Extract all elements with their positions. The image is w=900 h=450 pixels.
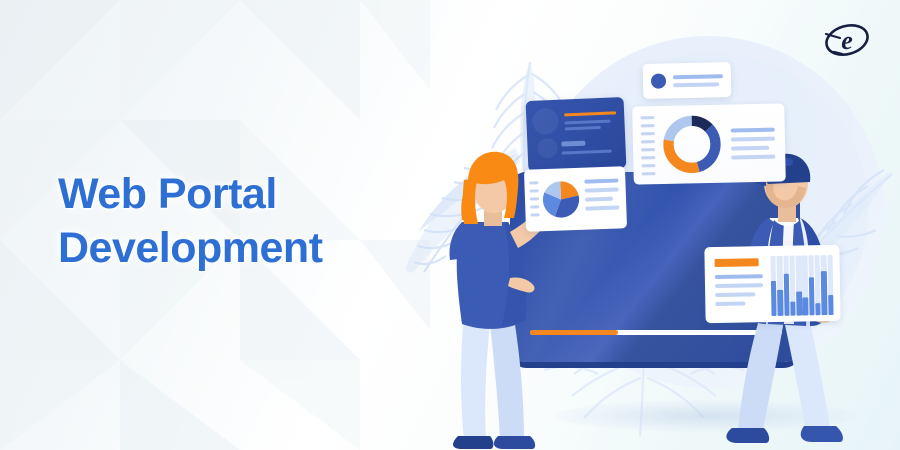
bar-card-text-line <box>715 301 745 306</box>
card-blob <box>532 108 559 135</box>
donut-card-tick <box>641 148 655 151</box>
avatar-card-text-line <box>673 74 723 79</box>
bar <box>809 277 815 315</box>
pie-card-text-line <box>585 197 613 202</box>
pie-card-tick <box>530 205 539 208</box>
dark-card-text-line <box>565 126 601 131</box>
pie-card-text-line <box>585 205 619 210</box>
page-title-line-2: Development <box>58 222 323 276</box>
bar <box>815 303 821 315</box>
pie-card-tick <box>530 213 539 216</box>
pie-chart <box>541 180 580 219</box>
card-blob <box>537 138 558 159</box>
bar-chart-card[interactable] <box>704 245 840 323</box>
bar <box>803 297 809 315</box>
avatar-card[interactable] <box>643 62 732 99</box>
bar-card-accent-bar <box>715 258 759 267</box>
dark-card-text-line <box>562 150 612 155</box>
pie-card-tick <box>530 197 539 200</box>
donut-card-text-line <box>731 146 769 151</box>
bar-card-text-line <box>715 274 763 279</box>
dark-card-text-line <box>564 120 610 125</box>
bar-card-text-line <box>715 283 763 288</box>
logo-glyph: e <box>841 26 853 55</box>
donut-card-text-line <box>731 155 775 160</box>
avatar-card-text-line <box>673 82 719 87</box>
bar <box>771 281 777 316</box>
dark-card-highlight <box>561 141 585 147</box>
bar <box>828 295 834 315</box>
bar <box>796 291 802 315</box>
donut-card-tick <box>642 172 656 175</box>
bar <box>821 271 827 315</box>
donut-card-tick <box>641 164 655 167</box>
donut-chart <box>660 113 723 176</box>
banner-root: Web Portal Development e <box>0 0 900 450</box>
pie-card-tick <box>530 189 539 192</box>
bar-card-text-line <box>715 292 755 297</box>
donut-card-text-line <box>731 137 775 142</box>
bar <box>790 301 796 315</box>
bar <box>783 274 789 316</box>
donut-card-tick <box>640 116 654 119</box>
donut-card-tick <box>641 132 655 135</box>
pie-chart-card[interactable] <box>524 166 627 231</box>
page-title-line-1: Web Portal <box>58 168 323 222</box>
donut-card-tick <box>641 156 655 159</box>
donut-chart-card[interactable] <box>632 103 786 184</box>
e-orbit-logo[interactable]: e <box>820 16 874 64</box>
pie-card-tick <box>529 181 538 184</box>
pie-card-text-line <box>585 187 619 192</box>
bar <box>777 289 783 315</box>
pie-card-text-line <box>584 178 618 183</box>
dark-notification-card[interactable] <box>526 97 627 172</box>
donut-card-tick <box>641 124 655 127</box>
page-title: Web Portal Development <box>58 168 323 276</box>
donut-card-tick <box>641 140 655 143</box>
avatar <box>651 73 666 88</box>
donut-card-text-line <box>731 128 775 133</box>
dark-card-accent-bar <box>564 111 616 116</box>
bar-chart <box>771 255 834 316</box>
